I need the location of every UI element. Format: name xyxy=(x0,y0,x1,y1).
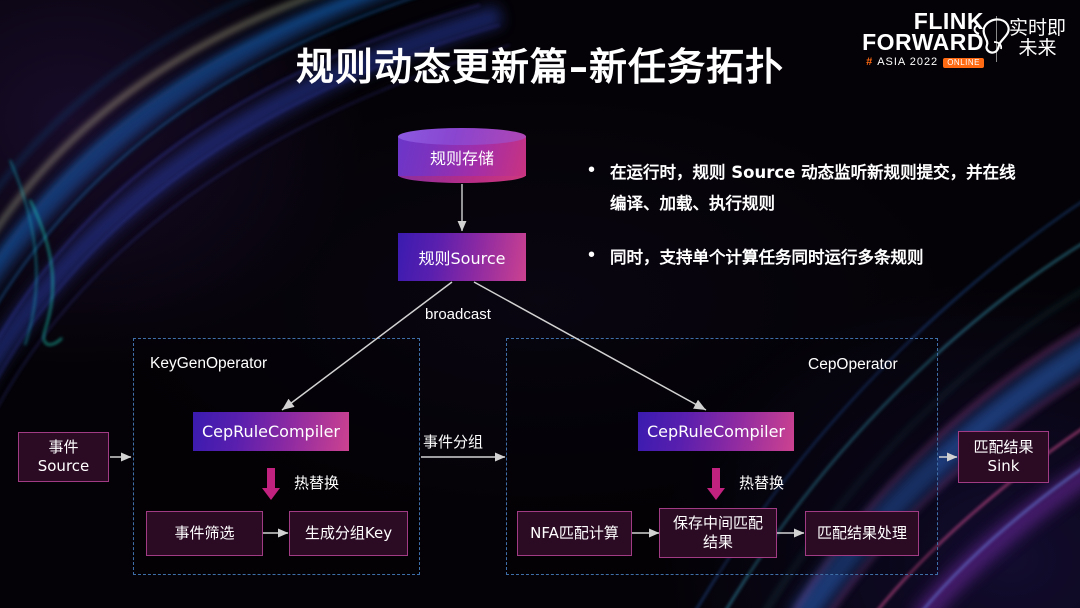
keygen-step-filter-label: 事件筛选 xyxy=(174,524,234,543)
keygen-compiler-label: CepRuleCompiler xyxy=(202,422,340,441)
broadcast-edge-label: broadcast xyxy=(425,306,491,323)
keygen-step-filter-node[interactable]: 事件筛选 xyxy=(146,511,263,556)
event-source-node[interactable]: 事件 Source xyxy=(18,432,109,482)
rule-storage-node[interactable]: 规则存储 xyxy=(398,128,526,182)
event-grouping-edge-label: 事件分组 xyxy=(423,431,483,452)
cep-rule-compiler-node[interactable]: CepRuleCompiler xyxy=(638,412,794,451)
cep-step-nfa-node[interactable]: NFA匹配计算 xyxy=(517,511,632,556)
event-source-label-line2: Source xyxy=(38,457,90,476)
keygen-hot-swap-label: 热替换 xyxy=(294,472,339,493)
event-source-label-line1: 事件 xyxy=(48,438,78,457)
rule-source-label: 规则Source xyxy=(419,245,506,269)
cep-step-store-label: 保存中间匹配结果 xyxy=(666,514,770,552)
rule-source-node[interactable]: 规则Source xyxy=(398,233,526,281)
architecture-diagram: KeyGenOperator CepOperator xyxy=(0,0,1080,608)
cep-hot-swap-label: 热替换 xyxy=(739,472,784,493)
cep-step-nfa-label: NFA匹配计算 xyxy=(530,524,619,543)
cep-compiler-label: CepRuleCompiler xyxy=(647,422,785,441)
cep-step-store-node[interactable]: 保存中间匹配结果 xyxy=(659,508,777,558)
keygen-cep-rule-compiler-node[interactable]: CepRuleCompiler xyxy=(193,412,349,451)
slide-root: FLINK FORWARD # ASIA 2022 ONLINE 实时即 未来 … xyxy=(0,0,1080,608)
rule-storage-label: 规则存储 xyxy=(398,141,526,173)
cep-step-result-node[interactable]: 匹配结果处理 xyxy=(805,511,919,556)
keygen-step-genkey-node[interactable]: 生成分组Key xyxy=(289,511,408,556)
cep-step-result-label: 匹配结果处理 xyxy=(817,524,907,543)
keygen-step-genkey-label: 生成分组Key xyxy=(305,524,392,543)
cep-operator-label: CepOperator xyxy=(808,356,898,374)
result-sink-label-line2: Sink xyxy=(988,457,1020,476)
result-sink-label-line1: 匹配结果 xyxy=(973,438,1033,457)
keygen-operator-label: KeyGenOperator xyxy=(150,355,267,373)
result-sink-node[interactable]: 匹配结果 Sink xyxy=(958,431,1049,483)
